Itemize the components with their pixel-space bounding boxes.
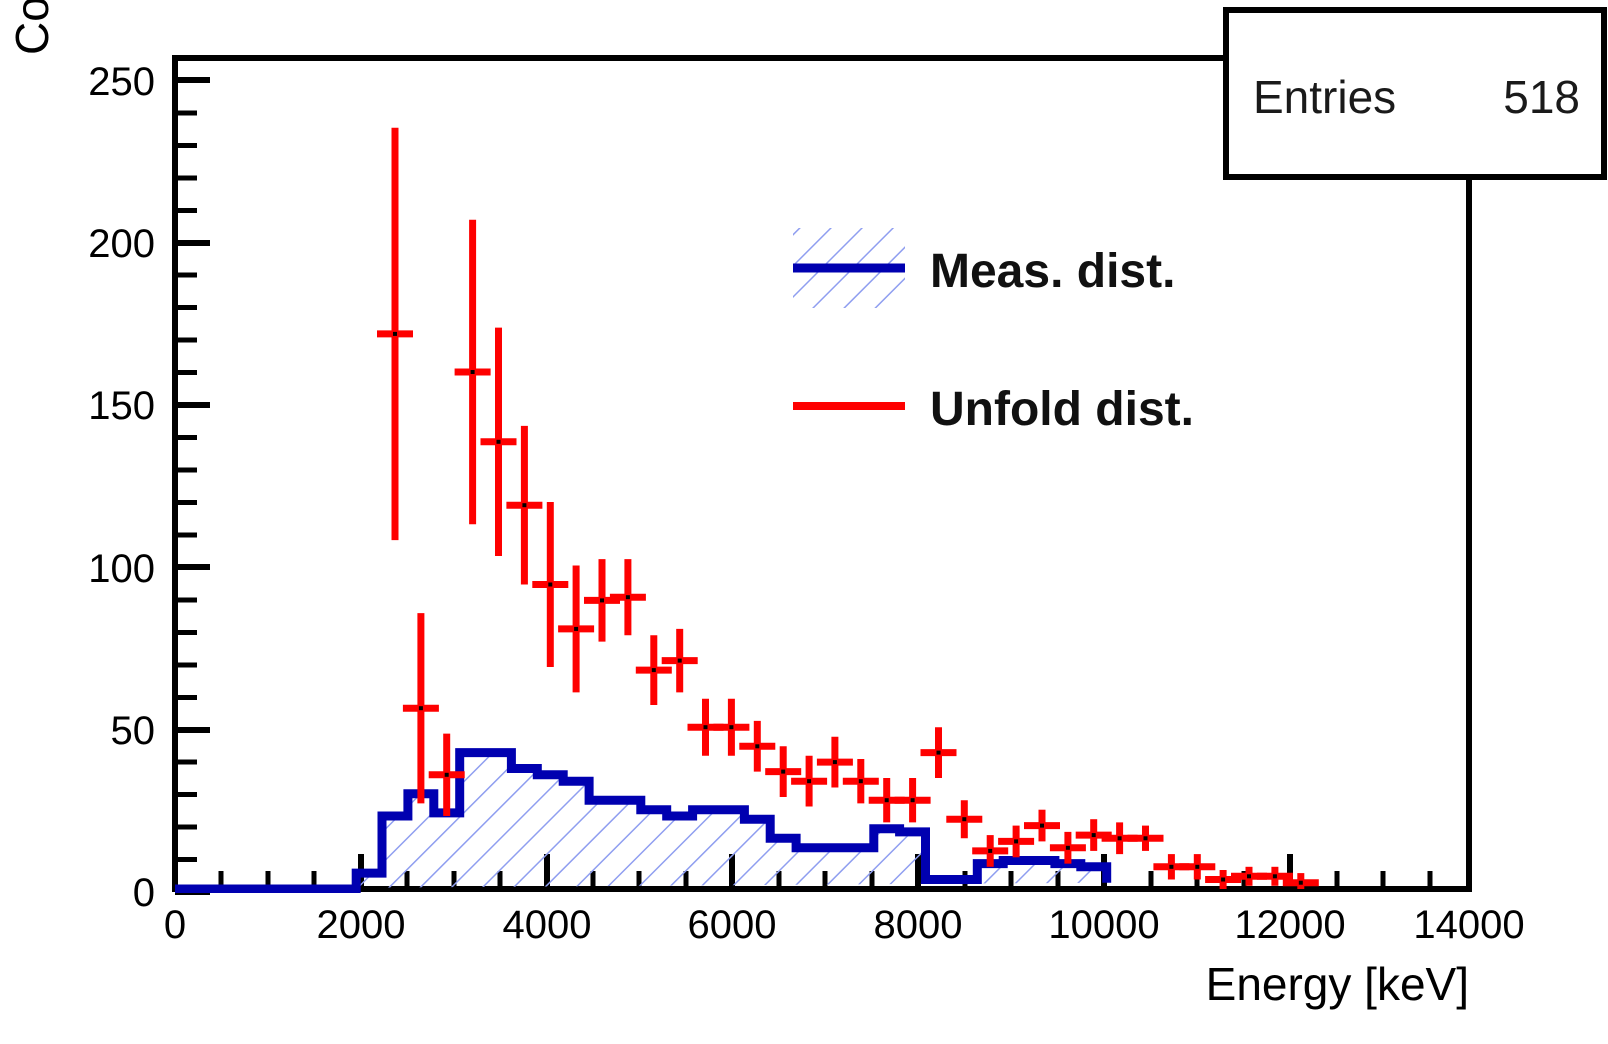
x-tick-label-2000: 2000 — [317, 903, 406, 947]
y-tick-label-50: 50 — [111, 709, 156, 753]
unfold-point-center — [1221, 878, 1225, 882]
y-tick-label-200: 200 — [88, 222, 155, 266]
x-tick-label-4000: 4000 — [503, 903, 592, 947]
unfold-point-center — [1195, 865, 1199, 869]
y-tick-label-150: 150 — [88, 384, 155, 428]
x-tick-label-10000: 10000 — [1048, 903, 1159, 947]
unfold-point-center — [522, 503, 526, 507]
x-tick-label-0: 0 — [164, 903, 186, 947]
stats-box[interactable]: Entries 518 — [1226, 10, 1604, 177]
x-tick-label-12000: 12000 — [1234, 903, 1345, 947]
unfold-point-center — [937, 751, 941, 755]
legend-label-meas-dist: Meas. dist. — [930, 245, 1175, 298]
unfold-point-center — [833, 760, 837, 764]
unfold-point-center — [497, 440, 501, 444]
y-tick-label-0: 0 — [133, 871, 155, 915]
unfold-point-center — [988, 849, 992, 853]
unfold-point-center — [652, 668, 656, 672]
unfold-point-center — [885, 798, 889, 802]
unfold-point-center — [626, 595, 630, 599]
unfold-point-center — [755, 744, 759, 748]
unfold-point-center — [911, 798, 915, 802]
unfold-point-center — [1299, 881, 1303, 885]
y-axis-title: Counts per 280 keV — [6, 0, 58, 55]
unfold-point-center — [393, 332, 397, 336]
legend-label-unfold-dist: Unfold dist. — [930, 383, 1194, 436]
unfold-point-center — [419, 706, 423, 710]
unfold-point-center — [781, 770, 785, 774]
unfold-point-center — [1066, 846, 1070, 850]
unfold-point-center — [574, 627, 578, 631]
unfold-point-center — [471, 370, 475, 374]
unfold-point-center — [962, 817, 966, 821]
unfold-point-center — [807, 779, 811, 783]
x-tick-label-6000: 6000 — [688, 903, 777, 947]
unfold-point-center — [1273, 874, 1277, 878]
y-tick-label-100: 100 — [88, 547, 155, 591]
unfold-point-center — [1118, 836, 1122, 840]
unfold-point-center — [729, 725, 733, 729]
stats-entries-value: 518 — [1503, 71, 1580, 123]
root-histogram-canvas: 0 50 100 150 200 250 — [0, 0, 1608, 1044]
unfold-point-center — [859, 779, 863, 783]
unfold-point-center — [600, 598, 604, 602]
unfold-point-center — [704, 725, 708, 729]
x-axis-title: Energy [keV] — [1206, 958, 1469, 1010]
y-tick-label-250: 250 — [88, 60, 155, 104]
stats-entries-label: Entries — [1253, 71, 1396, 123]
unfold-point-center — [1092, 833, 1096, 837]
unfold-point-center — [548, 583, 552, 587]
unfold-point-center — [1144, 836, 1148, 840]
unfold-point-center — [445, 773, 449, 777]
unfold-point-center — [1247, 874, 1251, 878]
x-tick-label-14000: 14000 — [1413, 903, 1524, 947]
unfold-point-center — [1040, 824, 1044, 828]
chart-root: 0 50 100 150 200 250 — [0, 0, 1608, 1044]
unfold-point-center — [1014, 839, 1018, 843]
unfold-point-center — [678, 659, 682, 663]
unfold-point-center — [1169, 865, 1173, 869]
x-tick-label-8000: 8000 — [874, 903, 963, 947]
